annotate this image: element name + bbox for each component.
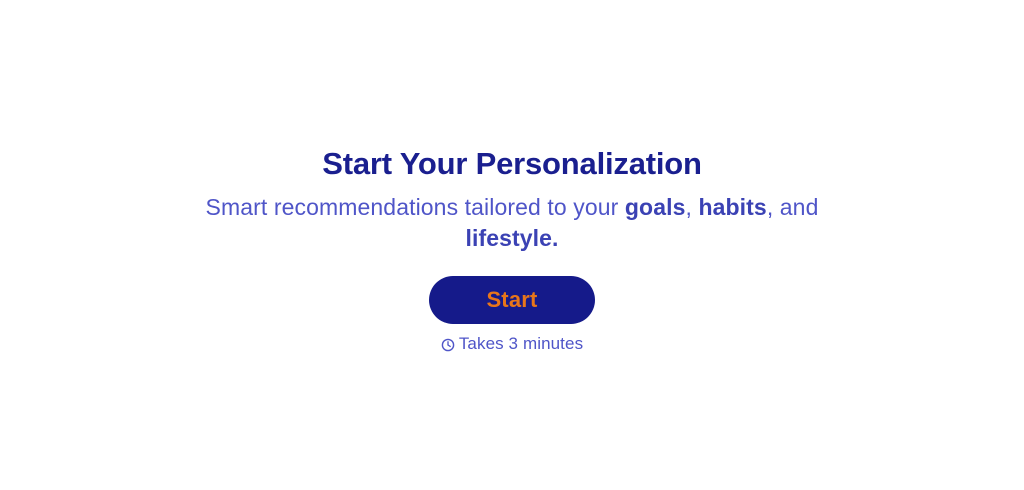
subtitle-segment: , and [767, 194, 819, 220]
duration-note-label: Takes 3 minutes [459, 333, 583, 354]
subtitle-segment: Smart recommendations tailored to your [206, 194, 625, 220]
subtitle-emphasis-lifestyle: lifestyle. [465, 225, 558, 251]
duration-note: Takes 3 minutes [441, 333, 583, 354]
subtitle-emphasis-goals: goals [625, 194, 686, 220]
cta-group: Start Takes 3 minutes [429, 276, 595, 354]
clock-icon [441, 338, 455, 352]
hero-subtitle: Smart recommendations tailored to your g… [172, 192, 852, 254]
personalization-screen: Start Your Personalization Smart recomme… [0, 0, 1024, 490]
subtitle-emphasis-habits: habits [698, 194, 766, 220]
hero-section: Start Your Personalization Smart recomme… [0, 0, 1024, 490]
start-button[interactable]: Start [429, 276, 595, 324]
page-title: Start Your Personalization [322, 145, 702, 183]
subtitle-segment: , [685, 194, 698, 220]
